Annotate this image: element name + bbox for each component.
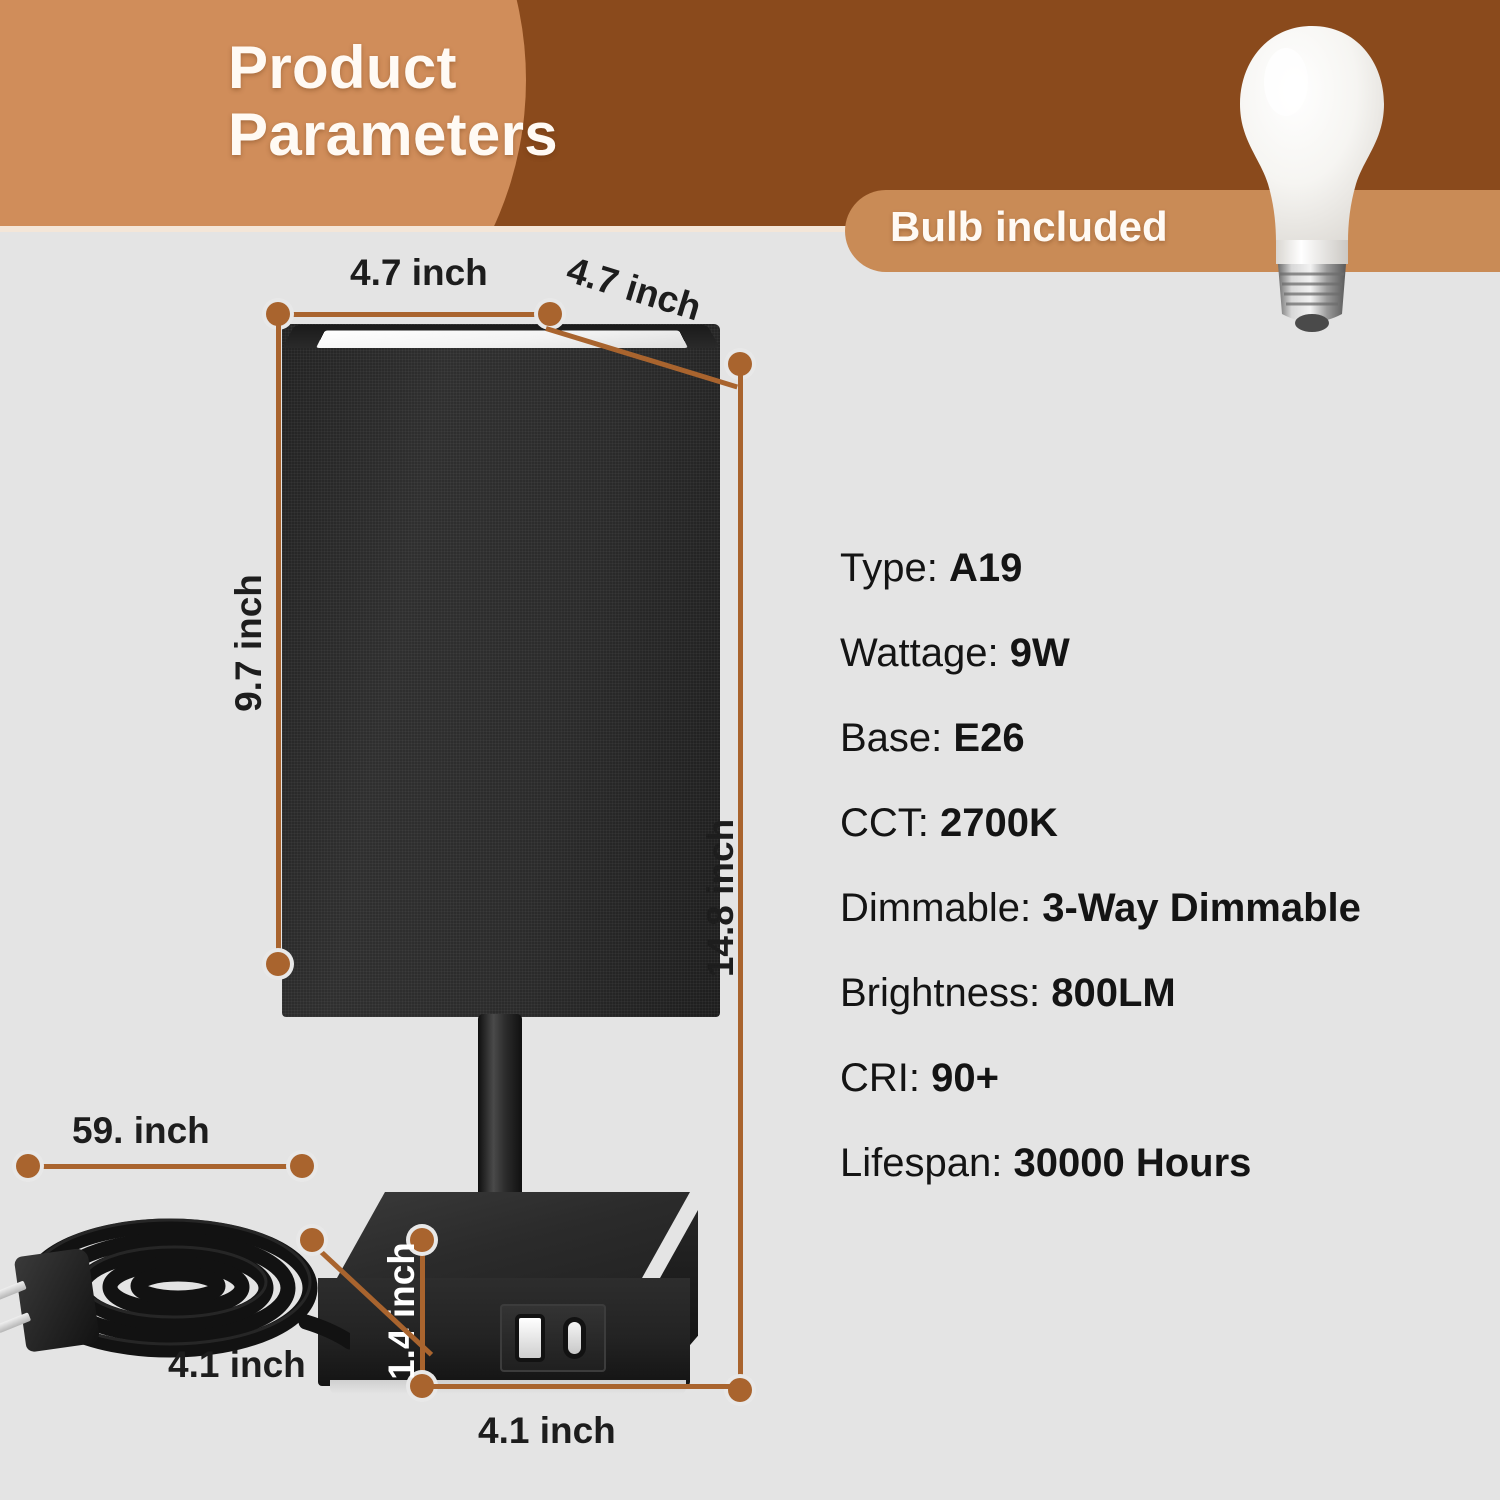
- lamp-shade-inner-opening: [316, 330, 688, 348]
- spec-label-base: Base:: [840, 716, 953, 760]
- dim-label-shade-top-right: 4.7 inch: [562, 249, 706, 329]
- usb-c-port-icon: [568, 1322, 581, 1354]
- spec-label-cct: CCT:: [840, 801, 940, 845]
- spec-label-type: Type:: [840, 546, 949, 590]
- page-title-line-1: Product: [228, 34, 748, 101]
- spec-value-cri: 90+: [931, 1056, 999, 1100]
- spec-row-brightness: Brightness: 800LM: [840, 973, 1490, 1013]
- dim-label-base-depth: 4.1 inch: [168, 1344, 306, 1386]
- dimdot-total-height-end: [728, 1378, 752, 1402]
- spec-value-lifespan: 30000 Hours: [1013, 1141, 1251, 1185]
- page-title: Product Parameters: [228, 34, 748, 168]
- dimdot-shade-top-left-end: [538, 302, 562, 326]
- dim-label-cord-length: 59. inch: [72, 1110, 210, 1152]
- dim-label-shade-top-left: 4.7 inch: [350, 252, 488, 294]
- spec-row-type: Type: A19: [840, 548, 1490, 588]
- spec-value-cct: 2700K: [940, 801, 1058, 845]
- dimdot-cord-start: [16, 1154, 40, 1178]
- led-bulb-icon: [1232, 18, 1392, 338]
- usb-a-port-icon: [519, 1318, 541, 1358]
- spec-row-dimmable: Dimmable: 3-Way Dimmable: [840, 888, 1490, 928]
- spec-value-base: E26: [953, 716, 1024, 760]
- spec-row-base: Base: E26: [840, 718, 1490, 758]
- spec-label-dimmable: Dimmable:: [840, 886, 1042, 930]
- dimline-shade-top-left: [278, 312, 550, 317]
- dimdot-base-depth-start: [300, 1228, 324, 1252]
- spec-label-lifespan: Lifespan:: [840, 1141, 1013, 1185]
- specification-list: Type: A19 Wattage: 9W Base: E26 CCT: 270…: [840, 548, 1490, 1228]
- power-plug: [14, 1247, 101, 1352]
- bulb-included-label: Bulb included: [890, 203, 1168, 251]
- spec-label-cri: CRI:: [840, 1056, 931, 1100]
- dimline-cord-length: [28, 1164, 302, 1169]
- spec-value-type: A19: [949, 546, 1022, 590]
- spec-label-brightness: Brightness:: [840, 971, 1051, 1015]
- dimdot-shade-height-end: [266, 952, 290, 976]
- spec-value-wattage: 9W: [1010, 631, 1070, 675]
- dim-label-base-width: 4.1 inch: [478, 1410, 616, 1452]
- spec-value-dimmable: 3-Way Dimmable: [1042, 886, 1361, 930]
- dim-label-shade-height: 9.7 inch: [228, 574, 270, 712]
- led-bulb-svg: [1232, 18, 1392, 338]
- lamp-illustration: 4.7 inch 4.7 inch 9.7 inch 14.8 inch 59.…: [0, 232, 820, 1500]
- dim-label-total-height: 14.8 inch: [700, 819, 742, 977]
- page-title-line-2: Parameters: [228, 101, 748, 168]
- dimdot-cord-end: [290, 1154, 314, 1178]
- product-parameters-infographic: Product Parameters Bulb included: [0, 0, 1500, 1500]
- spec-row-cri: CRI: 90+: [840, 1058, 1490, 1098]
- dimline-base-width: [424, 1384, 738, 1389]
- bulb-included-badge: Bulb included: [845, 190, 1500, 272]
- dimline-shade-height: [276, 314, 281, 964]
- spec-row-wattage: Wattage: 9W: [840, 633, 1490, 673]
- charging-port-panel: [500, 1304, 606, 1372]
- lamp-shade: [282, 324, 720, 1017]
- spec-row-lifespan: Lifespan: 30000 Hours: [840, 1143, 1490, 1183]
- spec-label-wattage: Wattage:: [840, 631, 1010, 675]
- spec-row-cct: CCT: 2700K: [840, 803, 1490, 843]
- spec-value-brightness: 800LM: [1051, 971, 1176, 1015]
